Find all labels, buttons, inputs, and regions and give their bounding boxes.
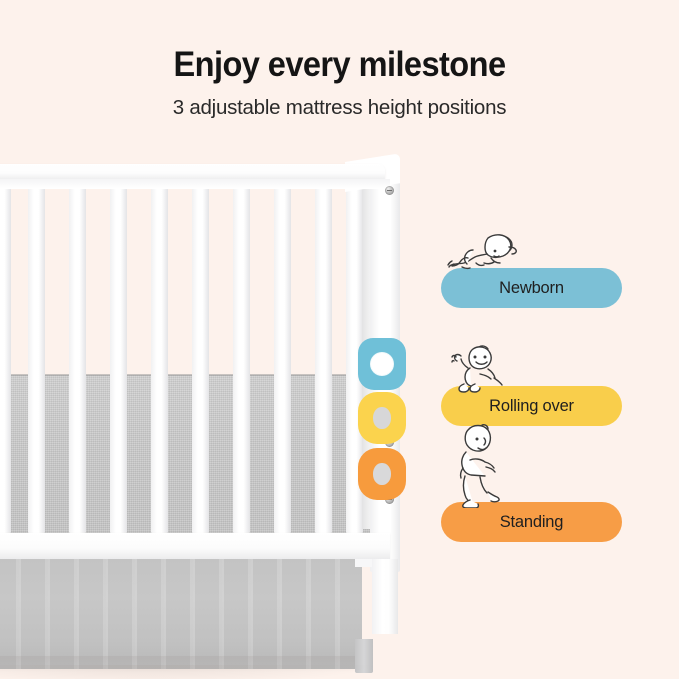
milestone-pill-newborn[interactable]: Newborn xyxy=(441,268,622,308)
crib-floor-shadow xyxy=(0,665,380,679)
crib-slat xyxy=(315,188,332,533)
crib-bottom-rail xyxy=(0,533,390,559)
crib-slats xyxy=(0,188,374,533)
height-marker-standing[interactable] xyxy=(358,448,406,500)
crib-slat xyxy=(192,188,209,533)
crib-bed-skirt xyxy=(0,559,362,669)
product-infographic: Enjoy every milestone 3 adjustable mattr… xyxy=(0,0,679,679)
toddler-standing-icon xyxy=(452,422,514,508)
crib-slat xyxy=(0,188,11,533)
crib-slat xyxy=(151,188,168,533)
crib-slat xyxy=(110,188,127,533)
crib-slat xyxy=(69,188,86,533)
height-marker-rolling-over[interactable] xyxy=(358,392,406,444)
crib-leg-bracket xyxy=(355,559,373,567)
crib-slat xyxy=(233,188,250,533)
crib-top-rail xyxy=(0,164,385,180)
milestone-pill-standing[interactable]: Standing xyxy=(441,502,622,542)
crib-right-leg xyxy=(372,559,398,634)
milestone-pill-rolling-over[interactable]: Rolling over xyxy=(441,386,622,426)
crib-slat xyxy=(28,188,45,533)
bed-skirt-folds xyxy=(0,559,362,669)
header: Enjoy every milestone 3 adjustable mattr… xyxy=(0,0,679,120)
screw-icon xyxy=(385,186,394,195)
crib-top-rail-edge xyxy=(0,179,390,189)
page-subtitle: 3 adjustable mattress height positions xyxy=(0,96,679,120)
height-marker-newborn[interactable] xyxy=(358,338,406,390)
milestone-legend: Newborn xyxy=(434,228,634,558)
crib-slat xyxy=(274,188,291,533)
mattress-height-markers xyxy=(358,338,414,518)
page-title: Enjoy every milestone xyxy=(24,46,655,83)
